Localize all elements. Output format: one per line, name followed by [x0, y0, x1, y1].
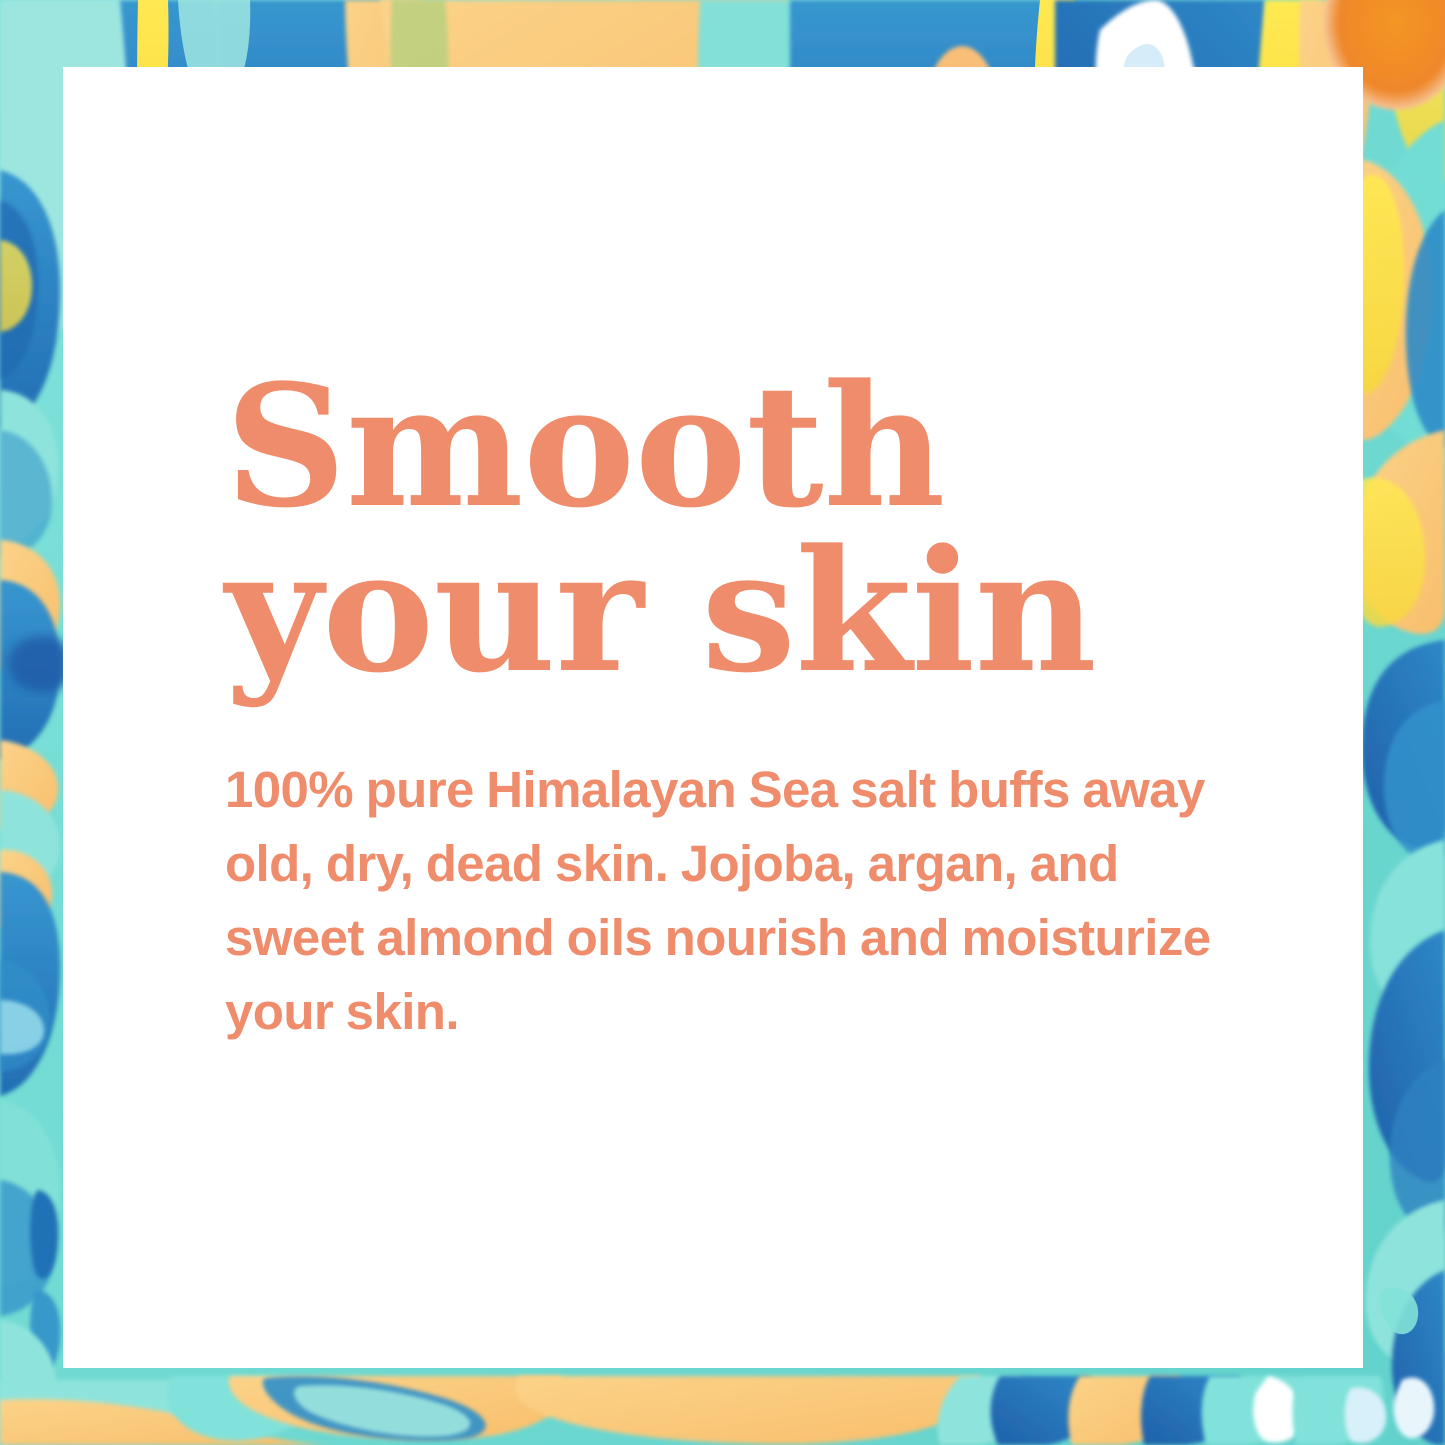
- poster-canvas: Smooth your skin 100% pure Himalayan Sea…: [0, 0, 1445, 1445]
- copy-block: Smooth your skin 100% pure Himalayan Sea…: [225, 364, 1305, 1049]
- body-description: 100% pure Himalayan Sea salt buffs away …: [225, 753, 1260, 1049]
- page-title: Smooth your skin: [225, 364, 1305, 693]
- content-card: Smooth your skin 100% pure Himalayan Sea…: [63, 67, 1363, 1368]
